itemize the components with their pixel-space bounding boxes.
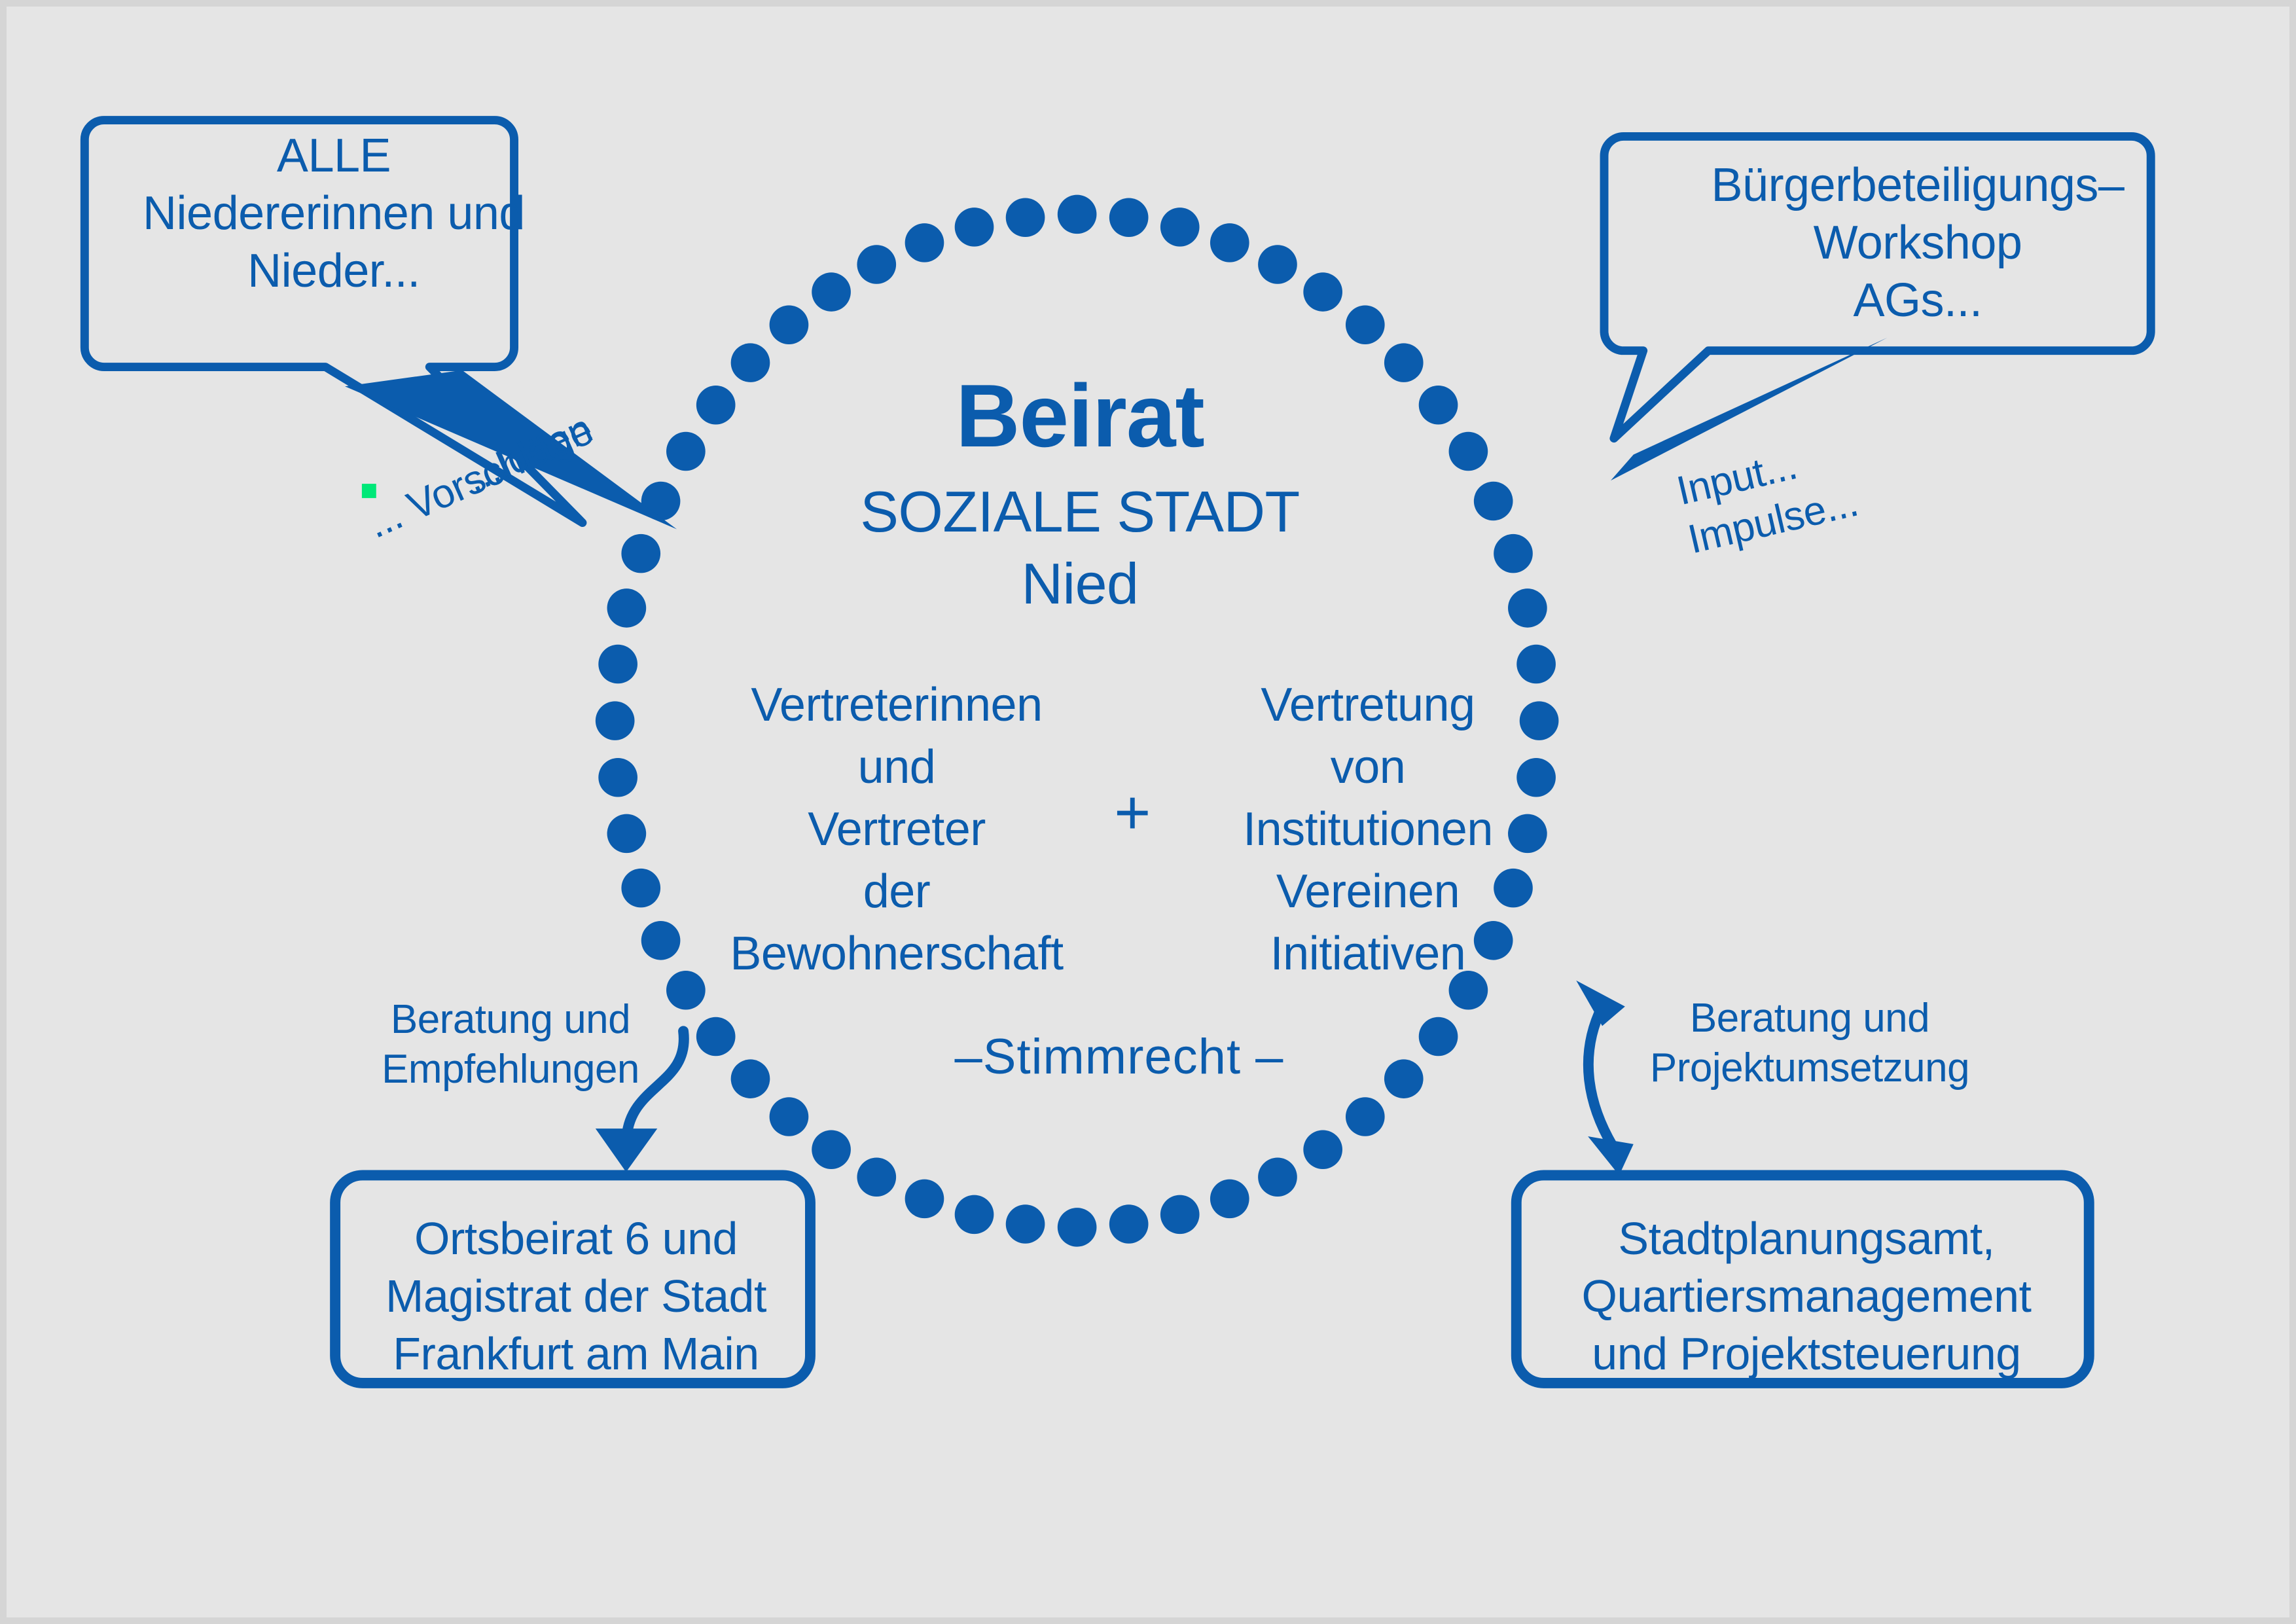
annotation-beratung-projektumsetzung: Beratung und Projektumsetzung — [1640, 994, 1980, 1092]
circle-dot — [1258, 245, 1297, 284]
circle-dot — [905, 1180, 944, 1219]
circle-dot — [812, 1130, 851, 1169]
arrow-right-double — [1576, 981, 1633, 1176]
circle-dot — [955, 1195, 994, 1235]
circle-dot — [905, 223, 944, 262]
circle-dot — [1384, 1059, 1424, 1098]
bubble-top-left-text: ALLE Niedererinnen und Nieder... — [105, 128, 563, 300]
annotation-beratung-empfehlungen: Beratung und Empfehlungen — [373, 995, 648, 1094]
circle-dot — [770, 1097, 809, 1136]
circle-dot — [666, 432, 706, 471]
bubble-top-right-text: Bürgerbeteiligungs– Workshop AGs... — [1682, 157, 2153, 329]
circle-dot — [1006, 1204, 1045, 1244]
circle-dot — [1419, 1017, 1458, 1056]
circle-dot — [1419, 386, 1458, 425]
circle-dot — [731, 1059, 770, 1098]
circle-dot — [1494, 534, 1533, 573]
circle-dot — [1160, 1195, 1200, 1235]
circle-dot — [598, 758, 637, 797]
box-bottom-right-text: Stadtplanungsamt, Quartiersmanagement un… — [1532, 1210, 2081, 1383]
circle-dot — [1210, 223, 1249, 262]
circle-dot — [1346, 1097, 1385, 1136]
plus-icon: + — [1086, 776, 1178, 850]
circle-dot — [1303, 272, 1342, 312]
circle-dot — [641, 921, 681, 960]
circle-dot — [812, 272, 851, 312]
footnote-stimmrecht: –Stimmrecht – — [877, 1028, 1361, 1087]
circle-dot — [607, 814, 647, 854]
page-title-beirat: Beirat — [753, 363, 1407, 468]
circle-dot — [1058, 195, 1097, 234]
circle-dot — [596, 701, 635, 740]
circle-dot — [1346, 305, 1385, 344]
circle-dot — [857, 1158, 896, 1197]
circle-dot — [1508, 588, 1547, 628]
circle-dot — [770, 305, 809, 344]
circle-dot — [696, 386, 736, 425]
circle-dot — [1258, 1158, 1297, 1197]
subtitle-nied: Nied — [753, 550, 1407, 618]
circle-dot — [1109, 198, 1149, 238]
circle-dot — [666, 971, 706, 1010]
circle-dot — [1058, 1208, 1097, 1247]
green-accent-square — [362, 484, 376, 498]
circle-dot — [621, 534, 660, 573]
box-bottom-left-text: Ortsbeirat 6 und Magistrat der Stadt Fra… — [344, 1210, 808, 1383]
circle-dot — [621, 869, 660, 908]
circle-dot — [1109, 1204, 1149, 1244]
circle-dot — [607, 588, 647, 628]
circle-dot — [1474, 482, 1513, 521]
circle-dot — [857, 245, 896, 284]
circle-dot — [1210, 1180, 1249, 1219]
circle-dot — [1160, 208, 1200, 247]
circle-dot — [696, 1017, 736, 1056]
diagram-canvas: ALLE Niedererinnen und Nieder... Bürgerb… — [0, 0, 2296, 1624]
circle-dot — [1006, 198, 1045, 238]
subtitle-soziale-stadt: SOZIALE STADT — [753, 478, 1407, 546]
circle-dot — [598, 645, 637, 684]
members-column-institutions: Vertretung von Institutionen Vereinen In… — [1204, 674, 1532, 985]
circle-dot — [1303, 1130, 1342, 1169]
members-column-residents: Vertreterinnen und Vertreter der Bewohne… — [713, 674, 1080, 985]
circle-dot — [1449, 432, 1488, 471]
circle-dot — [955, 208, 994, 247]
